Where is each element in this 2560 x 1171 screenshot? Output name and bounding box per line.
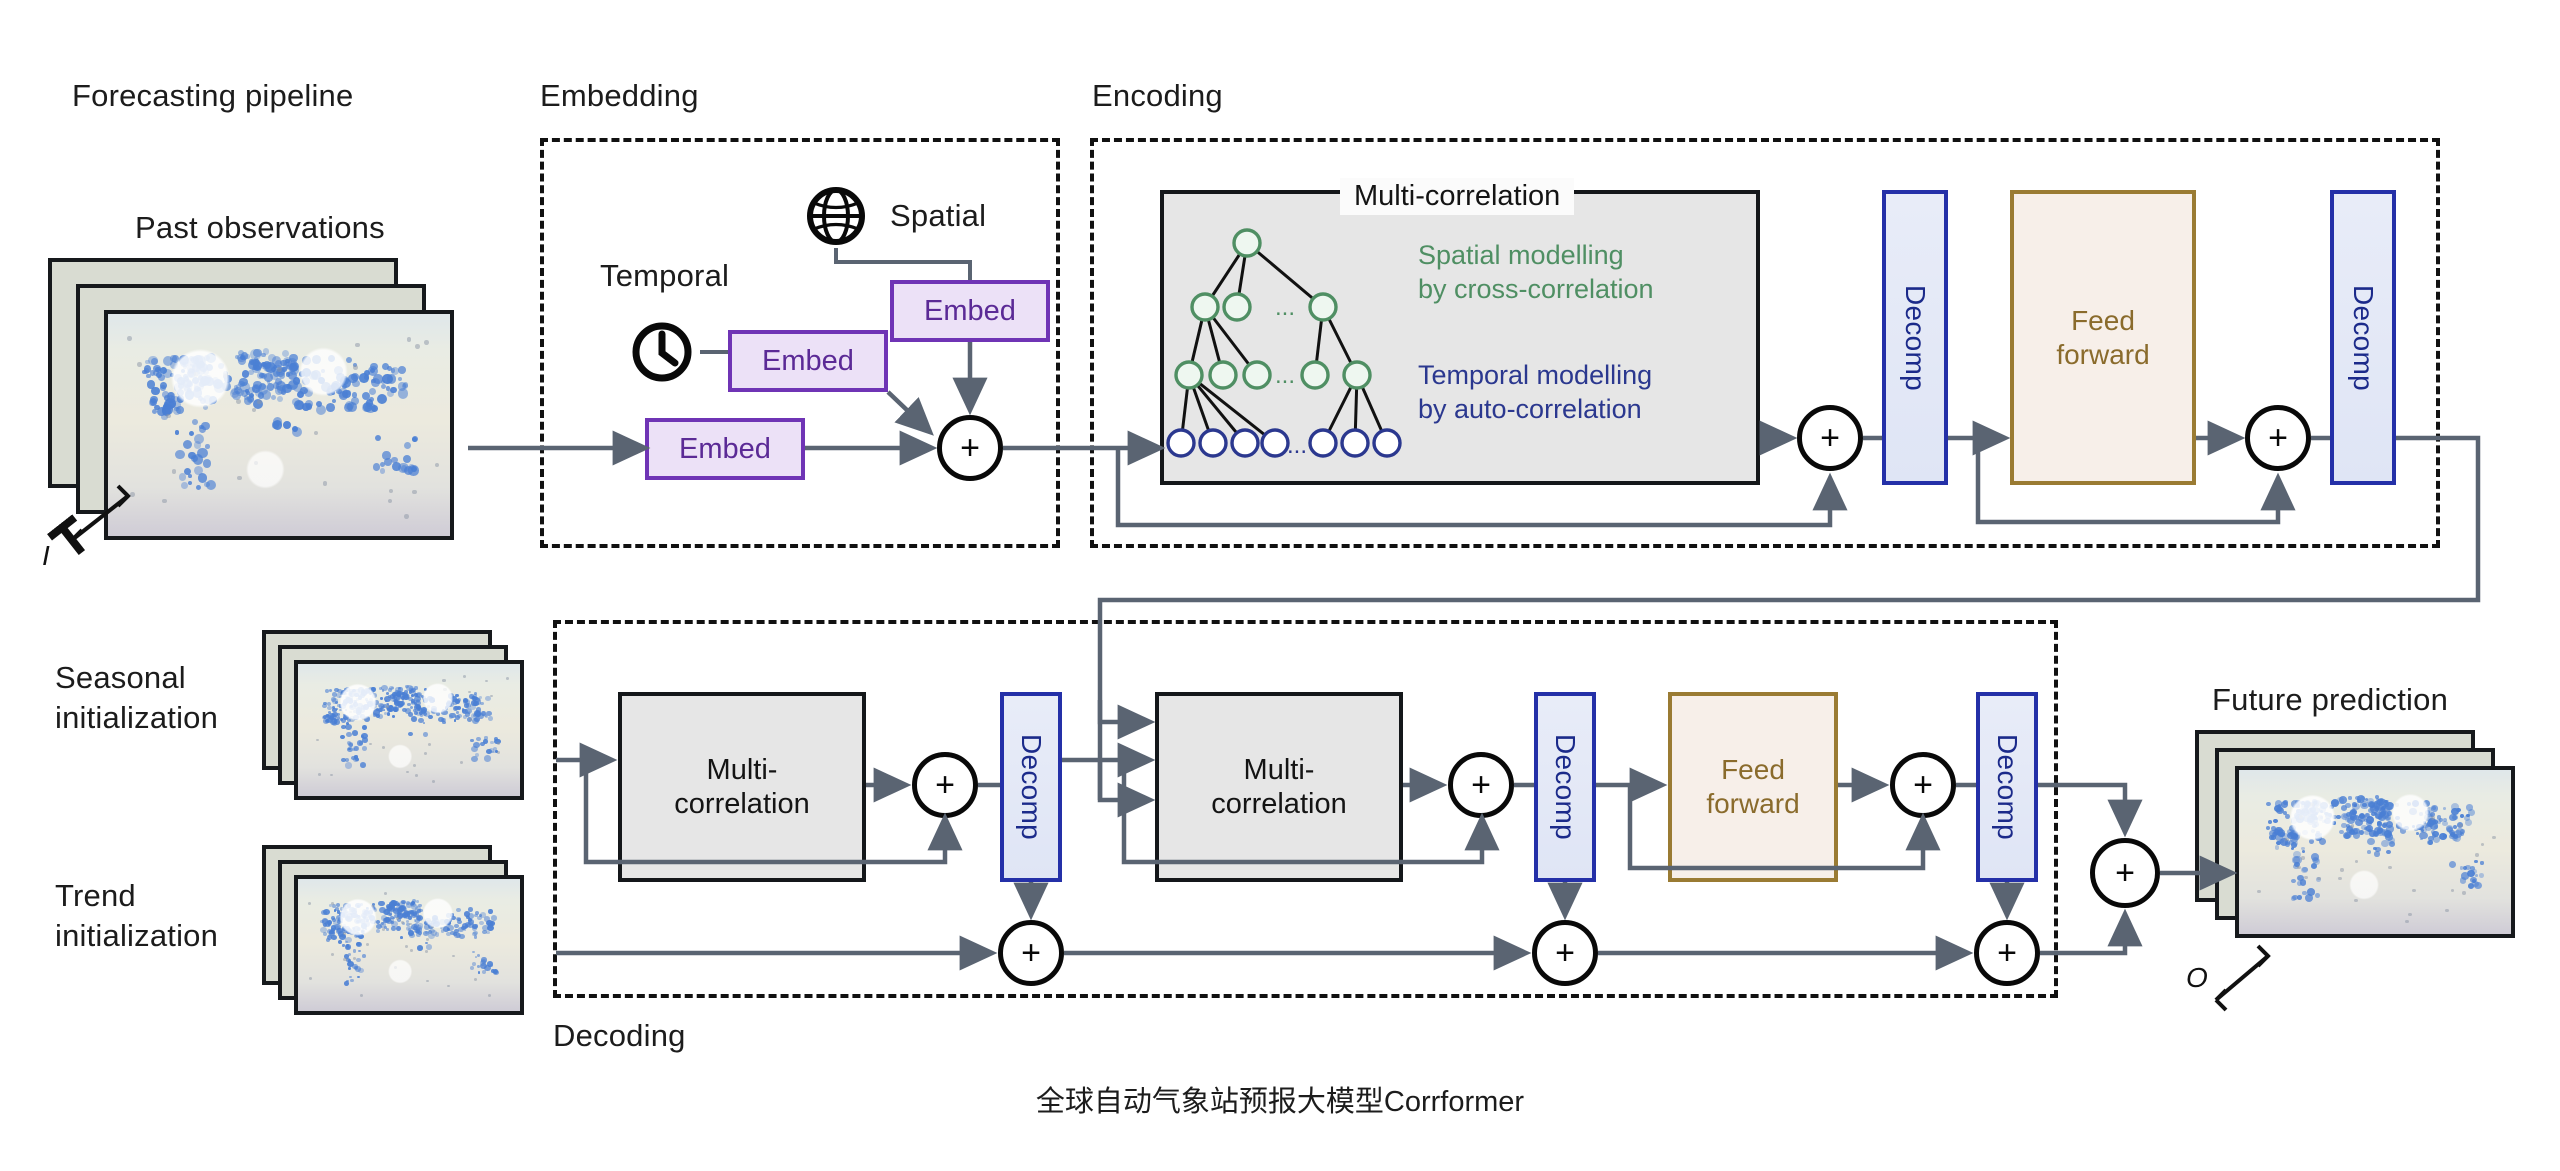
- embed-temporal-label: Embed: [762, 345, 854, 378]
- encoder-spatial-modelling-line2: by cross-correlation: [1418, 272, 1654, 306]
- section-header-pipeline: Forecasting pipeline: [72, 78, 353, 114]
- trend-init-label-line1: Trend: [55, 878, 136, 914]
- decoder-sum-node-1: +: [912, 752, 978, 818]
- past-observations-stack: [48, 258, 468, 558]
- globe-icon: [805, 185, 867, 247]
- svg-text:...: ...: [1275, 294, 1295, 321]
- decoder-multi-correlation-box-2[interactable]: Multi- correlation: [1155, 692, 1403, 882]
- clock-icon: [630, 320, 694, 384]
- feed-forward-line2: forward: [2056, 338, 2149, 372]
- trend-sum-node-1: +: [998, 920, 1064, 986]
- station-dots: [2239, 770, 2511, 934]
- plus-symbol: +: [1555, 936, 1575, 970]
- decoder-sum-node-2: +: [1448, 752, 1514, 818]
- encoder-sum-node-1: +: [1797, 405, 1863, 471]
- embed-value-box[interactable]: Embed: [645, 418, 805, 480]
- station-dots: [298, 879, 520, 1011]
- svg-text:...: ...: [1275, 362, 1295, 389]
- section-header-embedding: Embedding: [540, 78, 699, 114]
- embed-temporal-box[interactable]: Embed: [728, 330, 888, 392]
- decoder-mc-text-1: Multi- correlation: [674, 753, 809, 821]
- plus-symbol: +: [2115, 856, 2135, 890]
- embed-spatial-label: Embed: [924, 295, 1016, 328]
- encoder-sum-node-2: +: [2245, 405, 2311, 471]
- trend-init-label-line2: initialization: [55, 918, 218, 954]
- encoder-temporal-modelling-line1: Temporal modelling: [1418, 358, 1652, 392]
- trend-sum-node-2: +: [1532, 920, 1598, 986]
- section-header-decoding: Decoding: [553, 1018, 686, 1054]
- embed-spatial-box[interactable]: Embed: [890, 280, 1050, 342]
- decoder-decomp-label-3: Decomp: [1991, 734, 2023, 840]
- encoder-spatial-modelling-line1: Spatial modelling: [1418, 238, 1624, 272]
- temporal-label: Temporal: [600, 258, 729, 294]
- encoder-decomp-box-2[interactable]: Decomp: [2330, 190, 2396, 485]
- future-prediction-dim-label: O: [2186, 962, 2208, 994]
- future-prediction-stack: [2195, 730, 2555, 980]
- encoder-temporal-modelling-line2: by auto-correlation: [1418, 392, 1642, 426]
- trend-sum-node-3: +: [1974, 920, 2040, 986]
- feed-forward-text: Feed forward: [1706, 753, 1799, 820]
- world-map-thumbnail: [108, 314, 450, 536]
- stack-sheet-front: [294, 660, 524, 800]
- stack-sheet-front: [2235, 766, 2515, 938]
- past-observations-label: Past observations: [135, 210, 385, 246]
- station-dots: [298, 664, 520, 796]
- world-map-thumbnail: [2239, 770, 2511, 934]
- feed-forward-line1: Feed: [1706, 753, 1799, 787]
- embedding-sum-node: +: [937, 415, 1003, 481]
- station-dots: [108, 314, 450, 536]
- seasonal-init-label-line1: Seasonal: [55, 660, 186, 696]
- encoder-feed-forward-box[interactable]: Feed forward: [2010, 190, 2196, 485]
- plus-symbol: +: [1021, 936, 1041, 970]
- world-map-thumbnail: [298, 664, 520, 796]
- plus-symbol: +: [1820, 421, 1840, 455]
- stack-sheet-front: [104, 310, 454, 540]
- decoder-feed-forward-box[interactable]: Feed forward: [1668, 692, 1838, 882]
- decoder-decomp-box-3[interactable]: Decomp: [1976, 692, 2038, 882]
- encoder-multi-correlation-title: Multi-correlation: [1340, 178, 1574, 215]
- feed-forward-line1: Feed: [2056, 304, 2149, 338]
- figure-caption: 全球自动气象站预报大模型Corrformer: [0, 1085, 2560, 1120]
- decoder-mc-text-2: Multi- correlation: [1211, 753, 1346, 821]
- seasonal-init-stack: [262, 630, 562, 820]
- encoder-decomp-label-1: Decomp: [1899, 284, 1931, 390]
- section-header-encoding: Encoding: [1092, 78, 1223, 114]
- plus-symbol: +: [960, 431, 980, 465]
- seasonal-init-label-line2: initialization: [55, 700, 218, 736]
- correlation-tree-diagram: ... ... ...: [1175, 215, 1435, 477]
- embed-value-label: Embed: [679, 433, 771, 466]
- decoder-multi-correlation-box-1[interactable]: Multi- correlation: [618, 692, 866, 882]
- decoder-sum-node-3: +: [1890, 752, 1956, 818]
- stack-sheet-front: [294, 875, 524, 1015]
- decoder-mc-line2: correlation: [674, 787, 809, 821]
- decoder-decomp-label-2: Decomp: [1549, 734, 1581, 840]
- decoder-mc-line2: correlation: [1211, 787, 1346, 821]
- feed-forward-text: Feed forward: [2056, 304, 2149, 371]
- decoder-mc-line1: Multi-: [1211, 753, 1346, 787]
- plus-symbol: +: [1997, 936, 2017, 970]
- plus-symbol: +: [1913, 768, 1933, 802]
- future-prediction-label: Future prediction: [2212, 682, 2448, 718]
- decoder-decomp-label-1: Decomp: [1015, 734, 1047, 840]
- plus-symbol: +: [935, 768, 955, 802]
- plus-symbol: +: [1471, 768, 1491, 802]
- plus-symbol: +: [2268, 421, 2288, 455]
- decoder-mc-line1: Multi-: [674, 753, 809, 787]
- world-map-thumbnail: [298, 879, 520, 1011]
- encoder-decomp-label-2: Decomp: [2347, 284, 2379, 390]
- trend-init-stack: [262, 845, 562, 1035]
- figure-canvas: Forecasting pipeline Embedding Encoding …: [0, 0, 2560, 1171]
- encoder-decomp-box-1[interactable]: Decomp: [1882, 190, 1948, 485]
- decoder-decomp-box-1[interactable]: Decomp: [1000, 692, 1062, 882]
- feed-forward-line2: forward: [1706, 787, 1799, 821]
- svg-text:...: ...: [1287, 432, 1307, 459]
- final-sum-node: +: [2090, 838, 2160, 908]
- spatial-label: Spatial: [890, 198, 986, 234]
- decoder-decomp-box-2[interactable]: Decomp: [1534, 692, 1596, 882]
- past-observations-dim-label: I: [42, 540, 50, 572]
